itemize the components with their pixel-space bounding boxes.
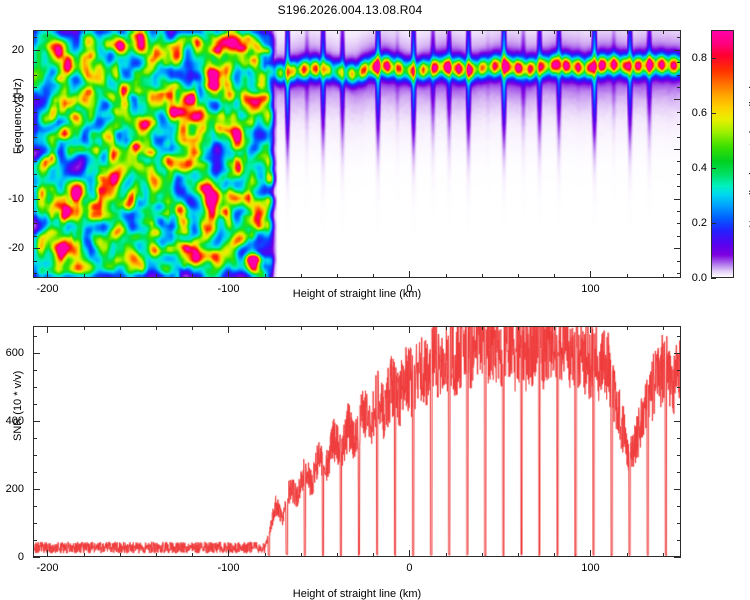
y-minor-tick	[33, 506, 37, 507]
y-minor-tick	[33, 124, 37, 125]
colorbar-tick	[711, 278, 716, 279]
x-major-tick	[228, 271, 229, 278]
spectrogram-panel	[33, 30, 681, 278]
x-minor-tick	[446, 326, 447, 330]
y-tick-label: -10	[0, 193, 24, 205]
y-minor-tick	[677, 87, 681, 88]
y-major-tick	[674, 489, 681, 490]
colorbar-tick-label: 0.2	[681, 217, 707, 229]
x-major-tick	[47, 271, 48, 278]
y-minor-tick	[677, 370, 681, 371]
x-minor-tick	[120, 553, 121, 557]
x-minor-tick	[446, 553, 447, 557]
x-minor-tick	[265, 326, 266, 330]
y-minor-tick	[33, 236, 37, 237]
y-minor-tick	[33, 112, 37, 113]
y-minor-tick	[33, 438, 37, 439]
y-minor-tick	[33, 137, 37, 138]
x-minor-tick	[120, 274, 121, 278]
y-minor-tick	[33, 211, 37, 212]
y-tick-label: 200	[0, 483, 24, 495]
x-minor-tick	[84, 553, 85, 557]
x-minor-tick	[265, 30, 266, 34]
y-minor-tick	[33, 261, 37, 262]
x-minor-tick	[627, 30, 628, 34]
x-minor-tick	[663, 553, 664, 557]
x-minor-tick	[373, 326, 374, 330]
y-minor-tick	[33, 336, 37, 337]
x-minor-tick	[554, 30, 555, 34]
snr-panel	[33, 326, 681, 557]
y-minor-tick	[33, 523, 37, 524]
snr-line-plot	[34, 327, 680, 556]
x-minor-tick	[337, 326, 338, 330]
colorbar-tick	[711, 223, 716, 224]
y-major-tick	[674, 149, 681, 150]
x-minor-tick	[482, 274, 483, 278]
colorbar-gradient	[712, 31, 733, 277]
colorbar-tick	[711, 168, 716, 169]
x-minor-tick	[482, 553, 483, 557]
x-minor-tick	[120, 30, 121, 34]
y-minor-tick	[33, 455, 37, 456]
y-minor-tick	[33, 540, 37, 541]
x-minor-tick	[518, 553, 519, 557]
x-major-tick	[409, 326, 410, 333]
x-minor-tick	[156, 274, 157, 278]
x-tick-label: -100	[217, 562, 239, 574]
y-minor-tick	[33, 472, 37, 473]
x-minor-tick	[554, 274, 555, 278]
colorbar-tick-label: 0.6	[681, 107, 707, 119]
x-minor-tick	[301, 274, 302, 278]
x-minor-tick	[446, 30, 447, 34]
y-major-tick	[33, 421, 40, 422]
y-major-tick	[33, 149, 40, 150]
y-minor-tick	[33, 62, 37, 63]
y-minor-tick	[677, 75, 681, 76]
y-major-tick	[674, 557, 681, 558]
colorbar-tick-label: 0.8	[681, 52, 707, 64]
x-minor-tick	[84, 326, 85, 330]
y-minor-tick	[677, 523, 681, 524]
x-tick-label: 0	[406, 562, 412, 574]
x-minor-tick	[482, 326, 483, 330]
x-minor-tick	[627, 553, 628, 557]
x-minor-tick	[663, 326, 664, 330]
y-major-tick	[674, 248, 681, 249]
figure-title: S196.2026.004.13.08.R04	[0, 3, 700, 17]
x-minor-tick	[482, 30, 483, 34]
y-minor-tick	[677, 261, 681, 262]
y-minor-tick	[677, 506, 681, 507]
x-minor-tick	[627, 326, 628, 330]
y-minor-tick	[677, 387, 681, 388]
x-minor-tick	[518, 30, 519, 34]
colorbar-tick	[711, 113, 716, 114]
y-minor-tick	[677, 186, 681, 187]
x-major-tick	[409, 550, 410, 557]
spectrogram-image	[34, 31, 680, 277]
y-major-tick	[33, 199, 40, 200]
y-minor-tick	[33, 370, 37, 371]
x-tick-label: -100	[217, 283, 239, 295]
x-tick-label: 100	[581, 562, 599, 574]
y-minor-tick	[33, 37, 37, 38]
x-tick-label: 100	[581, 283, 599, 295]
colorbar-tick-label: 0.0	[681, 272, 707, 284]
x-minor-tick	[192, 274, 193, 278]
x-minor-tick	[301, 553, 302, 557]
x-minor-tick	[663, 30, 664, 34]
x-major-tick	[590, 550, 591, 557]
x-minor-tick	[554, 553, 555, 557]
y-minor-tick	[33, 161, 37, 162]
y-minor-tick	[677, 455, 681, 456]
y-major-tick	[674, 99, 681, 100]
y-major-tick	[674, 421, 681, 422]
x-minor-tick	[156, 326, 157, 330]
x-minor-tick	[192, 30, 193, 34]
x-major-tick	[47, 550, 48, 557]
x-minor-tick	[663, 274, 664, 278]
x-major-tick	[47, 30, 48, 37]
x-minor-tick	[518, 326, 519, 330]
snr-xaxis-title: Height of straight line (km)	[293, 588, 421, 600]
y-major-tick	[33, 99, 40, 100]
x-major-tick	[590, 271, 591, 278]
x-minor-tick	[192, 553, 193, 557]
y-major-tick	[674, 50, 681, 51]
y-major-tick	[33, 50, 40, 51]
x-minor-tick	[301, 326, 302, 330]
y-minor-tick	[33, 273, 37, 274]
y-minor-tick	[33, 387, 37, 388]
y-major-tick	[33, 353, 40, 354]
x-minor-tick	[373, 553, 374, 557]
x-tick-label: -200	[36, 283, 58, 295]
y-tick-label: 0	[0, 551, 24, 563]
x-major-tick	[409, 271, 410, 278]
x-minor-tick	[337, 30, 338, 34]
y-minor-tick	[677, 211, 681, 212]
x-minor-tick	[554, 326, 555, 330]
spectrogram-yaxis-title: Frequency (Hz)	[12, 78, 24, 154]
colorbar-tick-label: 0.4	[681, 162, 707, 174]
y-major-tick	[33, 557, 40, 558]
y-major-tick	[674, 199, 681, 200]
x-major-tick	[409, 30, 410, 37]
x-major-tick	[228, 30, 229, 37]
x-minor-tick	[156, 30, 157, 34]
x-minor-tick	[84, 274, 85, 278]
y-tick-label: 600	[0, 347, 24, 359]
snr-yaxis-title: SNR (10 * v/v)	[12, 371, 24, 441]
y-major-tick	[674, 353, 681, 354]
y-minor-tick	[33, 87, 37, 88]
y-major-tick	[33, 248, 40, 249]
x-minor-tick	[373, 30, 374, 34]
x-major-tick	[590, 30, 591, 37]
x-minor-tick	[120, 326, 121, 330]
x-minor-tick	[446, 274, 447, 278]
spectrogram-xaxis-title: Height of straight line (km)	[293, 288, 421, 300]
x-minor-tick	[627, 274, 628, 278]
y-minor-tick	[33, 404, 37, 405]
y-minor-tick	[33, 186, 37, 187]
y-minor-tick	[677, 37, 681, 38]
y-minor-tick	[677, 137, 681, 138]
y-tick-label: 20	[0, 44, 24, 56]
y-minor-tick	[677, 124, 681, 125]
x-minor-tick	[84, 30, 85, 34]
y-major-tick	[33, 489, 40, 490]
y-minor-tick	[33, 174, 37, 175]
y-minor-tick	[33, 75, 37, 76]
x-minor-tick	[337, 274, 338, 278]
x-tick-label: -200	[36, 562, 58, 574]
x-major-tick	[228, 550, 229, 557]
y-minor-tick	[677, 540, 681, 541]
figure-root: S196.2026.004.13.08.R04 -200-10001002010…	[0, 0, 750, 600]
x-minor-tick	[156, 553, 157, 557]
y-minor-tick	[677, 472, 681, 473]
y-minor-tick	[677, 336, 681, 337]
x-major-tick	[590, 326, 591, 333]
x-minor-tick	[373, 274, 374, 278]
x-minor-tick	[518, 274, 519, 278]
y-minor-tick	[677, 438, 681, 439]
x-major-tick	[47, 326, 48, 333]
y-minor-tick	[33, 223, 37, 224]
y-minor-tick	[677, 404, 681, 405]
x-minor-tick	[265, 274, 266, 278]
x-major-tick	[228, 326, 229, 333]
y-tick-label: -20	[0, 242, 24, 254]
y-minor-tick	[677, 236, 681, 237]
x-minor-tick	[265, 553, 266, 557]
colorbar-tick	[711, 58, 716, 59]
colorbar	[711, 30, 734, 278]
x-minor-tick	[337, 553, 338, 557]
x-minor-tick	[301, 30, 302, 34]
x-minor-tick	[192, 326, 193, 330]
y-minor-tick	[677, 174, 681, 175]
